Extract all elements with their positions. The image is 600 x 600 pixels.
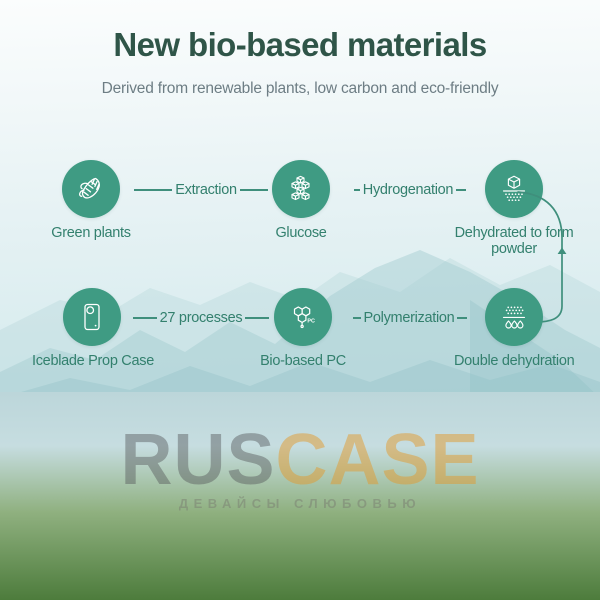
flow-node-label: Green plants: [31, 225, 151, 241]
page-subtitle: Derived from renewable plants, low carbo…: [0, 80, 600, 98]
molecule-pc-icon: PC: [286, 300, 320, 334]
sugar-cubes-icon: [284, 172, 318, 206]
flow-node-green-plants[interactable]: Green plants: [31, 160, 151, 241]
flow-node-glucose[interactable]: Glucose: [241, 160, 361, 241]
node-circle: [63, 288, 121, 346]
flow-node-label: Iceblade Prop Case: [32, 353, 152, 369]
connector-label: Polymerization: [361, 310, 458, 326]
flow-node-label: Double dehydration: [454, 353, 574, 369]
flow-node-bio-based-pc[interactable]: PC Bio-based PC: [243, 288, 363, 369]
phone-case-icon: [75, 300, 109, 334]
arrowhead-icon: [558, 247, 567, 254]
flow-node-iceblade-prop-case[interactable]: Iceblade Prop Case: [32, 288, 152, 369]
node-circle: [485, 288, 543, 346]
powder-droplets-icon: [497, 300, 531, 334]
molecule-mark-text: PC: [307, 318, 315, 324]
node-circle: [62, 160, 120, 218]
flow-node-label: Glucose: [241, 225, 361, 241]
photo-backdrop: [0, 392, 600, 600]
node-circle: [272, 160, 330, 218]
infographic-canvas: New bio-based materials Derived from ren…: [0, 0, 600, 600]
flow-node-double-dehydration[interactable]: Double dehydration: [454, 288, 574, 369]
flow-node-label: Bio-based PC: [243, 353, 363, 369]
connector-label: Hydrogenation: [360, 182, 456, 198]
page-title: New bio-based materials: [0, 26, 600, 64]
sugarcane-field-photo: [0, 392, 600, 600]
connector-label: Extraction: [172, 182, 239, 198]
corn-icon: [74, 172, 108, 206]
connector-label: 27 processes: [157, 310, 246, 326]
node-circle: PC: [274, 288, 332, 346]
